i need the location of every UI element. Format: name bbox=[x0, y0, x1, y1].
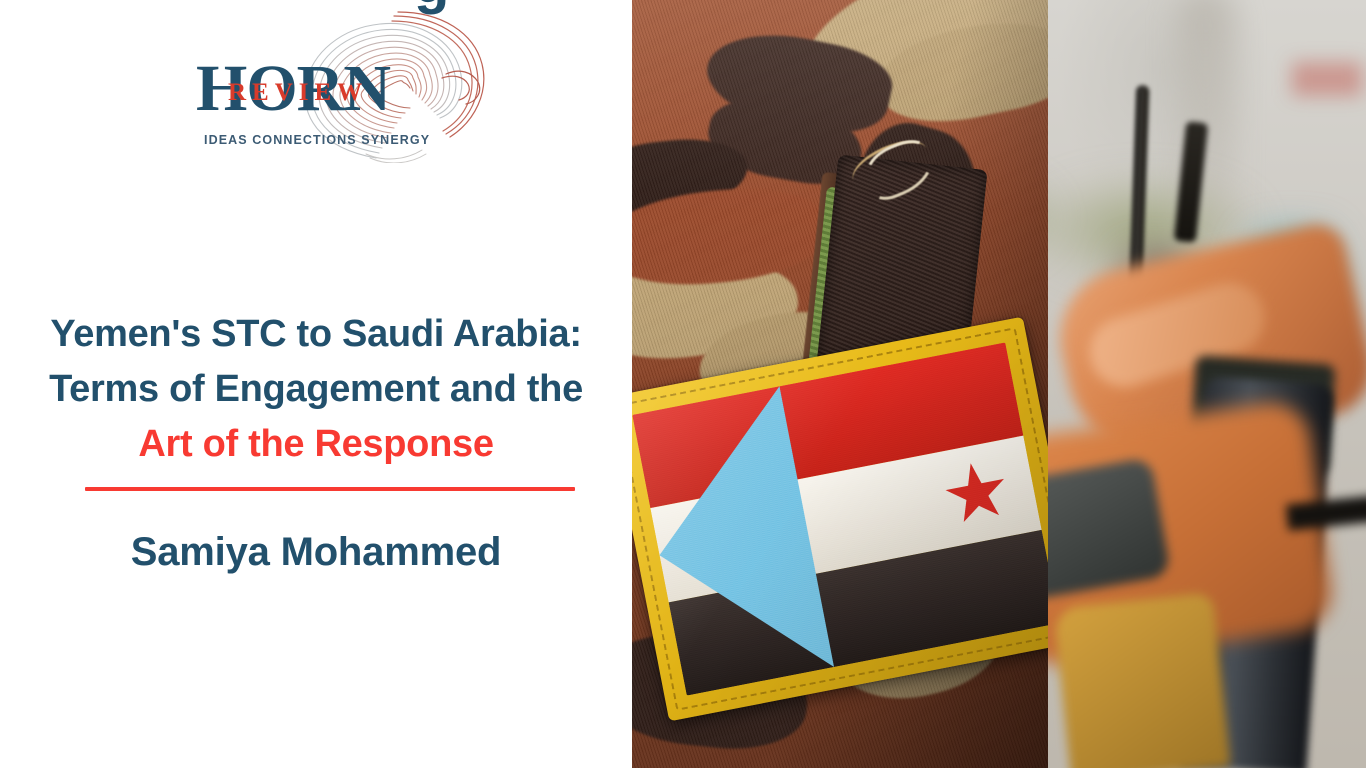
logo-review-text: REVIEW bbox=[228, 80, 368, 105]
left-text-panel: g bbox=[0, 0, 632, 768]
cover-photo bbox=[632, 0, 1366, 768]
horn-review-logo[interactable]: HORN REVIEW IDEAS CONNECTIONS SYNERGY bbox=[196, 8, 486, 163]
article-headline: Yemen's STC to Saudi Arabia: Terms of En… bbox=[0, 307, 632, 472]
photo-background-sign bbox=[1292, 62, 1362, 96]
logo-tagline: IDEAS CONNECTIONS SYNERGY bbox=[204, 133, 430, 147]
article-cover-canvas: g bbox=[0, 0, 1366, 768]
camouflage-sleeve bbox=[632, 0, 1048, 768]
headline-line-3-accent: Art of the Response bbox=[0, 417, 632, 472]
headline-line-1: Yemen's STC to Saudi Arabia: bbox=[0, 307, 632, 362]
headline-divider bbox=[85, 487, 575, 491]
rifle-wooden-stock bbox=[1053, 592, 1230, 768]
logo-wordmark: HORN REVIEW bbox=[196, 58, 426, 120]
author-name: Samiya Mohammed bbox=[0, 524, 632, 580]
headline-line-2: Terms of Engagement and the bbox=[0, 362, 632, 417]
